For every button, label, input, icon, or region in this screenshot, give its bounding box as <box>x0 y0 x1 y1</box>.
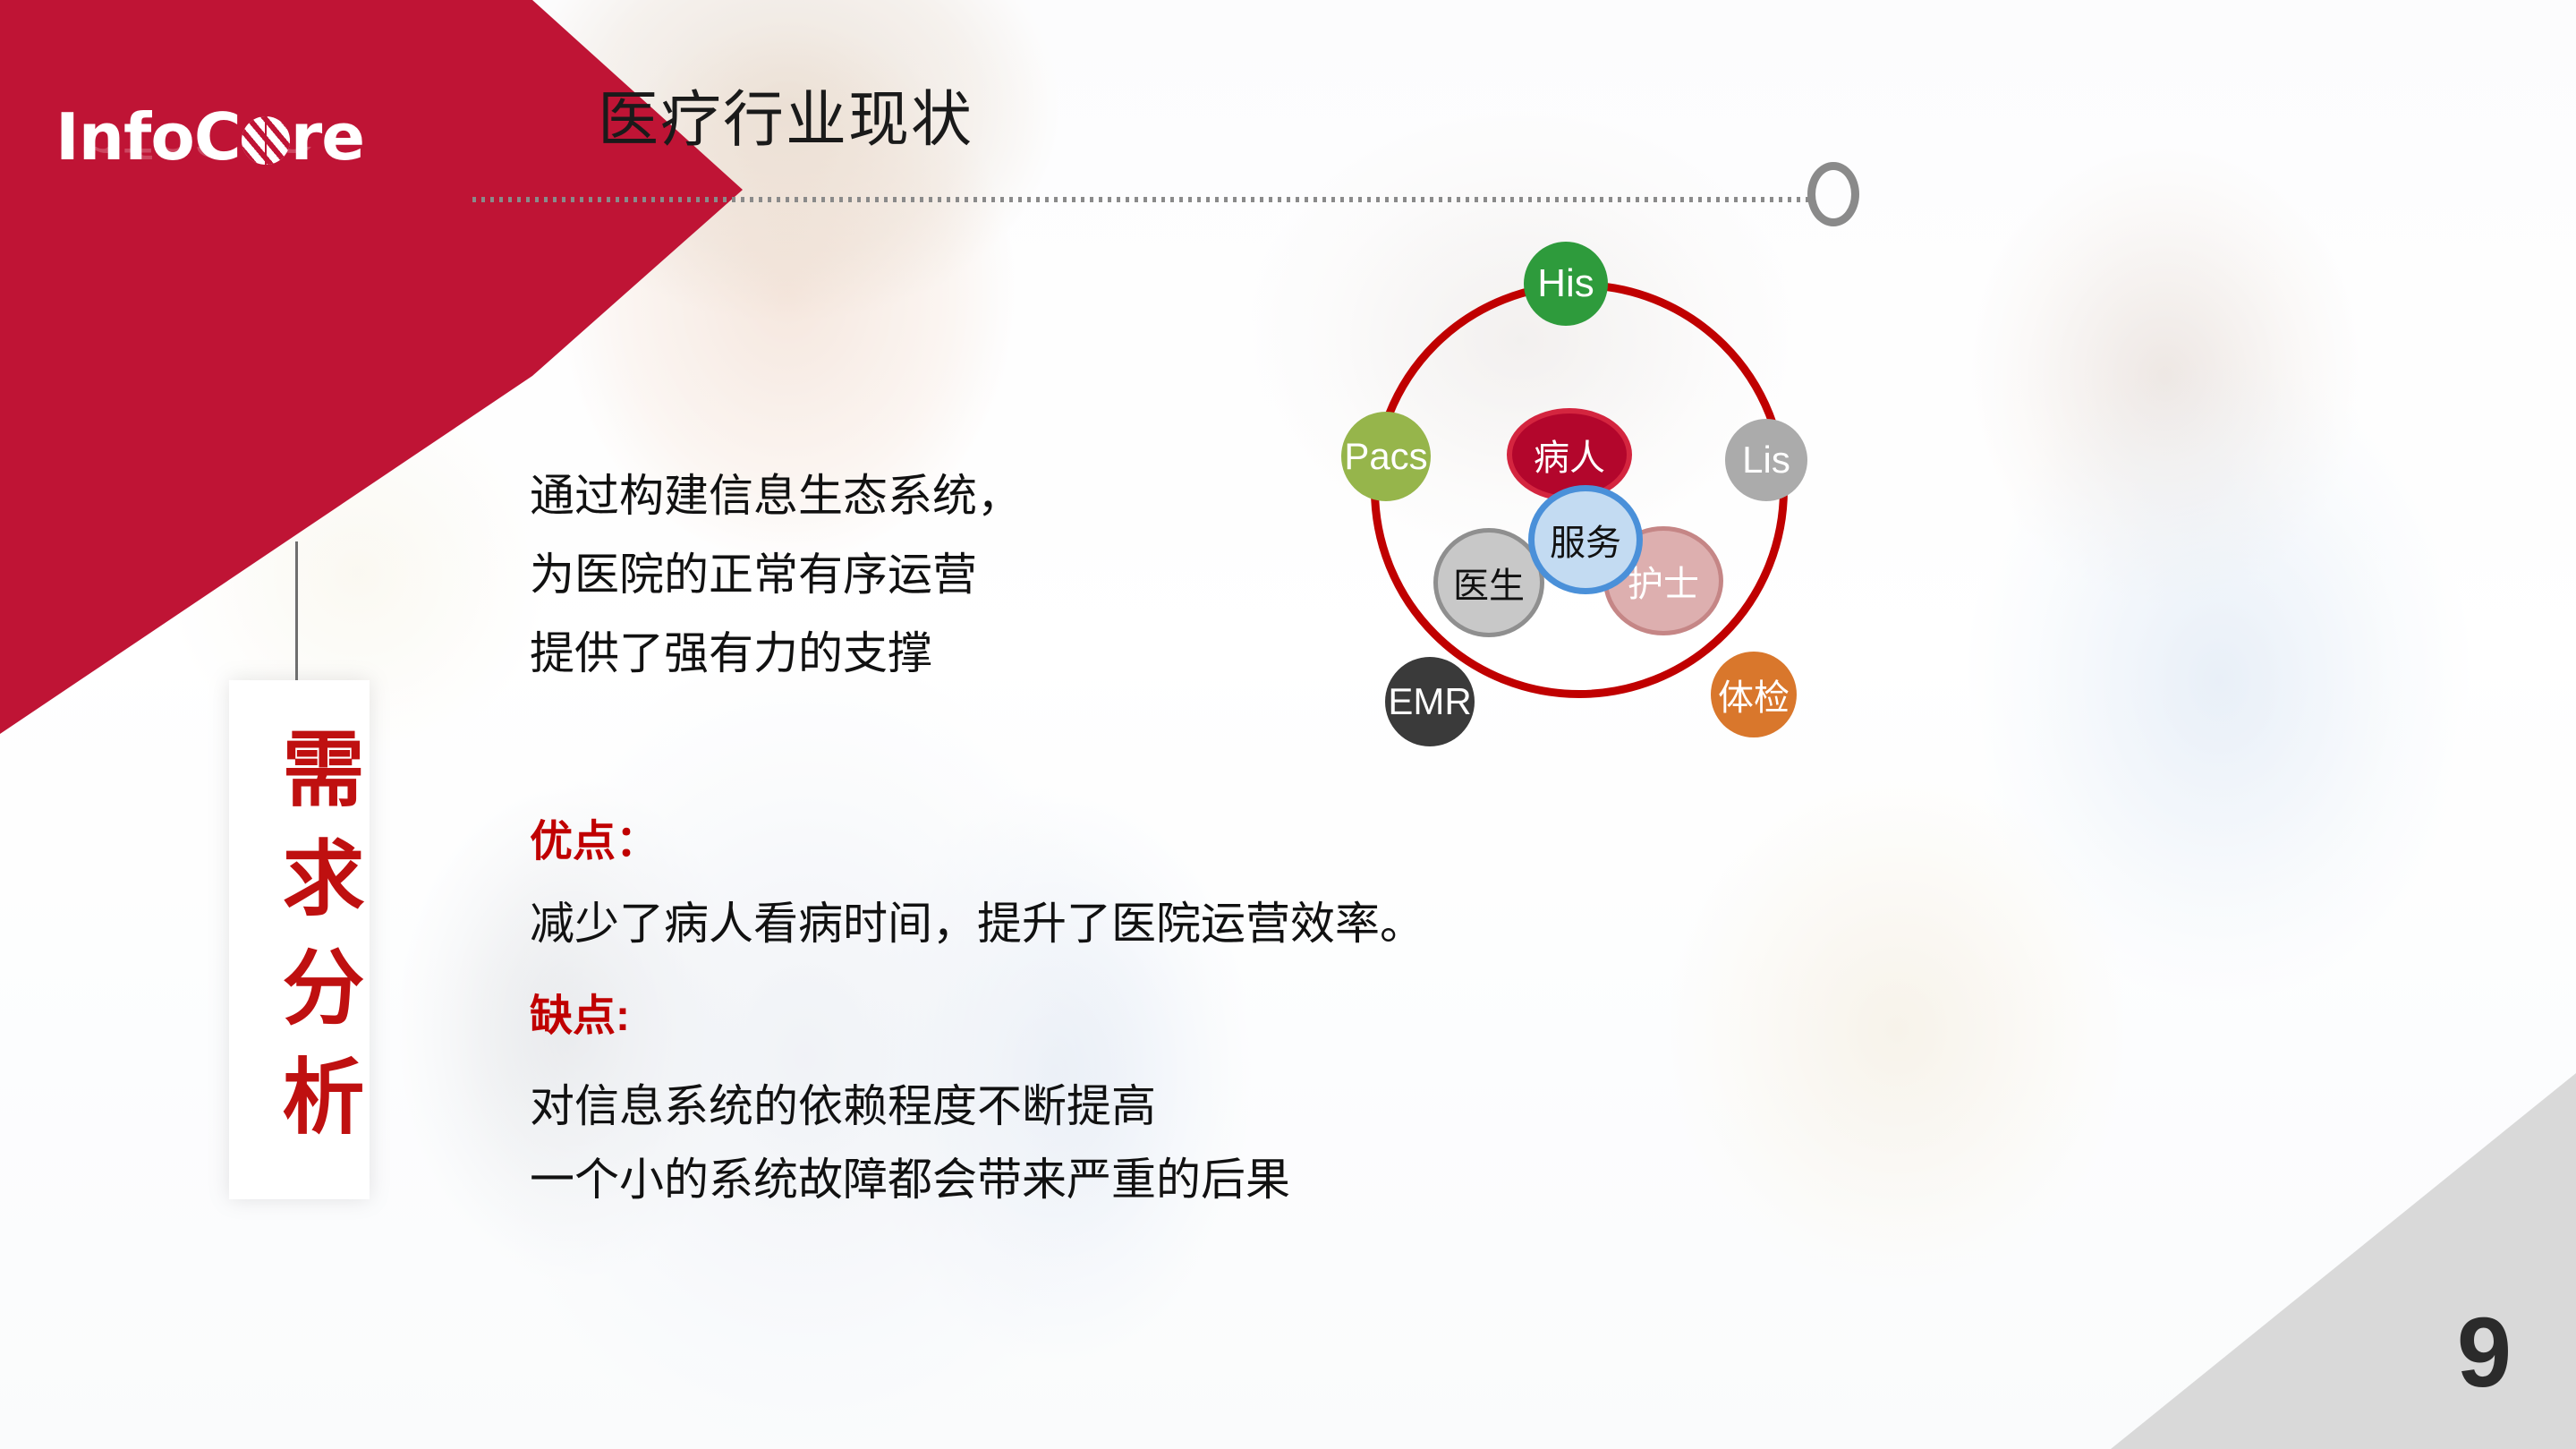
slide-canvas: InfoCre InfoCre 医疗行业现状 需求分析 通过构建信息生态系统， … <box>0 0 2576 1449</box>
intro-paragraph: 通过构建信息生态系统， 为医院的正常有序运营 提供了强有力的支撑 <box>530 456 1228 693</box>
infocore-logo[interactable]: InfoCre <box>55 97 431 177</box>
vertical-banner-text: 需求分析 <box>229 707 370 1181</box>
dotted-divider <box>472 197 1815 202</box>
ring-circle-icon <box>1807 162 1859 226</box>
intro-line-2: 为医院的正常有序运营 <box>530 535 1228 614</box>
diagram-node-tijian[interactable]: 体检 <box>1711 652 1797 737</box>
intro-line-3: 提供了强有力的支撑 <box>530 614 1228 693</box>
cons-line-1: 对信息系统的依赖程度不断提高 <box>530 1070 1290 1143</box>
intro-line-1: 通过构建信息生态系统， <box>530 456 1228 535</box>
diagram-node-emr[interactable]: EMR <box>1385 657 1475 746</box>
pros-text: 减少了病人看病时间，提升了医院运营效率。 <box>530 895 1424 952</box>
logo-text-2: re <box>291 99 364 175</box>
logo-text-1: InfoC <box>55 99 241 175</box>
cons-line-2: 一个小的系统故障都会带来严重的后果 <box>530 1143 1290 1216</box>
ecosystem-diagram: His Pacs Lis EMR 体检 病人 医生 护士 服务 <box>1306 260 1861 814</box>
globe-icon <box>242 116 290 165</box>
diagram-node-pacs[interactable]: Pacs <box>1341 412 1431 501</box>
diagram-node-his[interactable]: His <box>1524 242 1608 326</box>
pros-label: 优点： <box>530 805 659 868</box>
cons-text: 对信息系统的依赖程度不断提高 一个小的系统故障都会带来严重的后果 <box>530 1070 1290 1216</box>
page-number: 9 <box>2457 1304 2512 1402</box>
diagram-node-service[interactable]: 服务 <box>1528 485 1643 594</box>
page-title: 医疗行业现状 <box>598 70 973 158</box>
cons-label: 缺点: <box>530 980 630 1043</box>
diagram-node-lis[interactable]: Lis <box>1725 419 1807 501</box>
